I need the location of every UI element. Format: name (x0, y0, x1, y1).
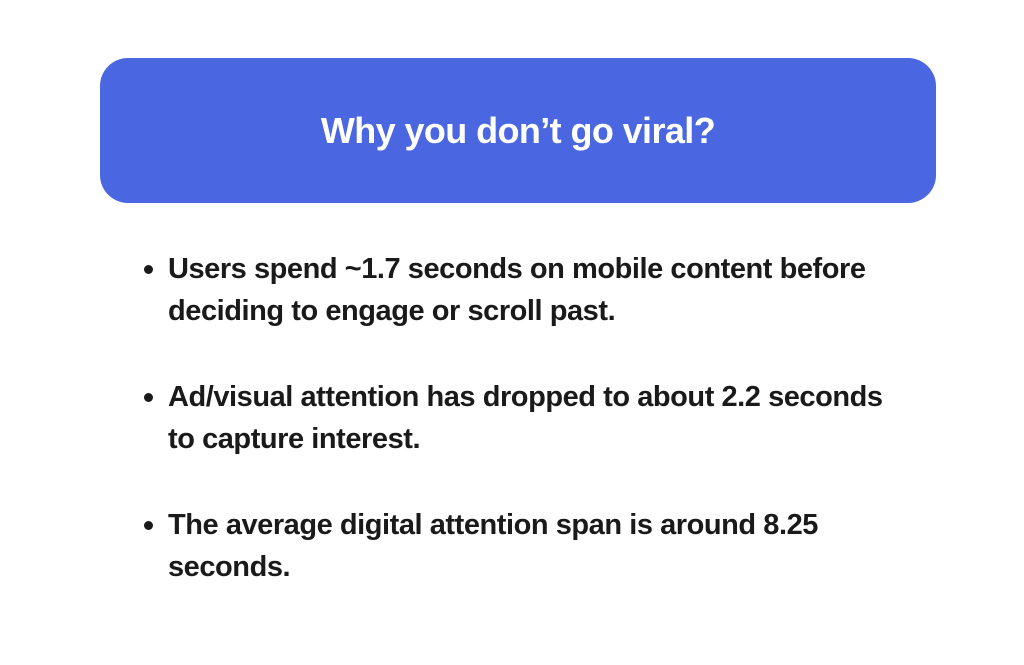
page-title: Why you don’t go viral? (321, 111, 715, 151)
list-item-text: Users spend ~1.7 seconds on mobile conte… (168, 248, 900, 332)
slide-canvas: Why you don’t go viral? Users spend ~1.7… (0, 0, 1024, 665)
bullet-dot-icon (144, 393, 153, 402)
bullet-list: Users spend ~1.7 seconds on mobile conte… (140, 248, 900, 588)
bullet-dot-icon (144, 521, 153, 530)
bullet-dot-icon (144, 265, 153, 274)
list-item: The average digital attention span is ar… (140, 504, 900, 588)
header-banner: Why you don’t go viral? (100, 58, 936, 203)
list-item-text: Ad/visual attention has dropped to about… (168, 376, 900, 460)
list-item: Ad/visual attention has dropped to about… (140, 376, 900, 460)
list-item: Users spend ~1.7 seconds on mobile conte… (140, 248, 900, 332)
list-item-text: The average digital attention span is ar… (168, 504, 900, 588)
